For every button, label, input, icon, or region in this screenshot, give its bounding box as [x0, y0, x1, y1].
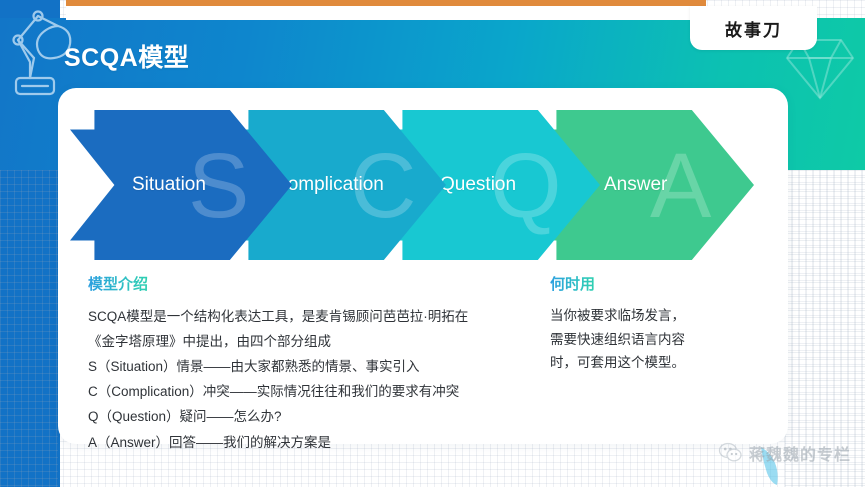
- badge-story-knife: 故事刀: [690, 6, 817, 50]
- badge-label: 故事刀: [725, 16, 782, 41]
- top-white-strip: [66, 6, 706, 20]
- intro-line: S（Situation）情景——由大家都熟悉的情景、事实引入: [88, 354, 540, 379]
- slide-root: SCQA模型 故事刀 S Situation C Complication Q …: [0, 0, 865, 487]
- intro-column: 模型介绍 SCQA模型是一个结构化表达工具，是麦肯锡顾问芭芭拉·明拓在 《金字塔…: [88, 273, 540, 455]
- usage-line: 需要快速组织语言内容: [550, 328, 765, 352]
- content-card: S Situation C Complication Q Question A …: [58, 88, 788, 444]
- page-title: SCQA模型: [64, 38, 189, 74]
- intro-line: C（Complication）冲突——实际情况往往和我们的要求有冲突: [88, 379, 540, 404]
- flow-step-label: Question: [440, 174, 516, 196]
- watermark-text: 蒋魏魏的专栏: [749, 441, 851, 465]
- scqa-flow: S Situation C Complication Q Question A …: [58, 110, 788, 260]
- intro-heading: 模型介绍: [88, 273, 148, 294]
- usage-column: 何时用 当你被要求临场发言， 需要快速组织语言内容 时，可套用这个模型。: [550, 273, 765, 375]
- watermark: 蒋魏魏的专栏: [718, 440, 851, 465]
- usage-heading: 何时用: [550, 273, 595, 294]
- left-grid-pattern: [0, 170, 58, 487]
- intro-line: 《金字塔原理》中提出，由四个部分组成: [88, 329, 540, 354]
- intro-line: SCQA模型是一个结构化表达工具，是麦肯锡顾问芭芭拉·明拓在: [88, 304, 540, 329]
- intro-line: A（Answer）回答——我们的解决方案是: [88, 430, 540, 455]
- intro-line: Q（Question）疑问——怎么办?: [88, 404, 540, 429]
- wechat-logo-icon: [718, 440, 743, 465]
- usage-line: 当你被要求临场发言，: [550, 304, 765, 328]
- flow-step-label: Answer: [604, 174, 667, 196]
- usage-line: 时，可套用这个模型。: [550, 351, 765, 375]
- flow-step-label: Situation: [132, 174, 206, 196]
